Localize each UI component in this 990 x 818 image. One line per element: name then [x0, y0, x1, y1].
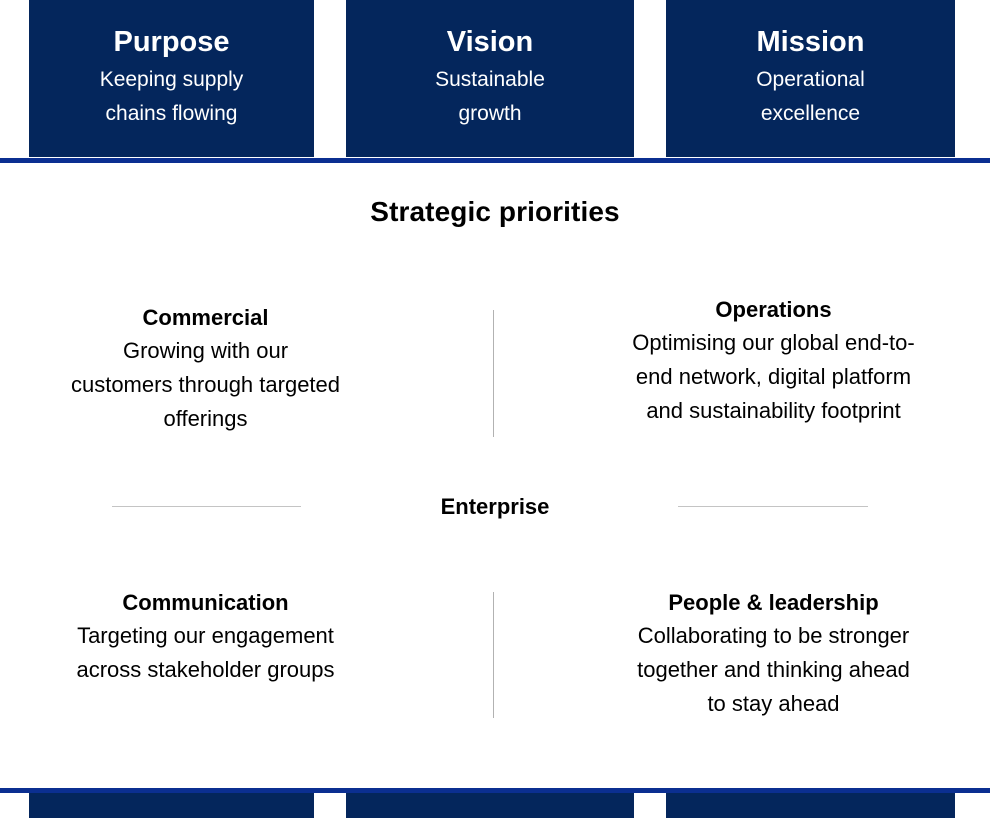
quadrant-people-leadership-description: Collaborating to be stronger together an…	[602, 619, 945, 722]
enterprise-label: Enterprise	[0, 494, 990, 520]
quadrant-commercial-description: Growing with our customers through targe…	[22, 334, 389, 437]
pillar-vision-subtitle: Sustainable growth	[435, 63, 545, 129]
section-title: Strategic priorities	[0, 196, 990, 228]
quadrant-people-leadership-title: People & leadership	[602, 589, 945, 617]
pillar-mission-title: Mission	[757, 27, 865, 58]
pillar-vision-title: Vision	[447, 27, 534, 58]
quadrant-operations-description: Optimising our global end-to- end networ…	[602, 326, 945, 429]
quadrant-communication: Communication Targeting our engagement a…	[22, 589, 389, 687]
quadrant-operations-title: Operations	[602, 296, 945, 324]
divider-vertical-top	[493, 310, 494, 437]
pillar-vision: Vision Sustainable growth	[346, 0, 634, 157]
quadrant-operations: Operations Optimising our global end-to-…	[602, 296, 945, 428]
quadrant-communication-title: Communication	[22, 589, 389, 617]
pillar-purpose-title: Purpose	[113, 27, 229, 58]
footer-block-1	[29, 793, 314, 818]
quadrant-people-leadership: People & leadership Collaborating to be …	[602, 589, 945, 721]
pillar-purpose-subtitle: Keeping supply chains flowing	[100, 63, 244, 129]
top-band: Purpose Keeping supply chains flowing Vi…	[0, 0, 990, 157]
accent-rule-top	[0, 158, 990, 163]
divider-vertical-bottom	[493, 592, 494, 718]
quadrant-communication-description: Targeting our engagement across stakehol…	[22, 619, 389, 688]
footer-block-2	[346, 793, 634, 818]
quadrant-commercial-title: Commercial	[22, 304, 389, 332]
quadrant-commercial: Commercial Growing with our customers th…	[22, 304, 389, 436]
footer-block-3	[666, 793, 955, 818]
slide-canvas: Purpose Keeping supply chains flowing Vi…	[0, 0, 990, 818]
pillar-purpose: Purpose Keeping supply chains flowing	[29, 0, 314, 157]
pillar-mission: Mission Operational excellence	[666, 0, 955, 157]
pillar-mission-subtitle: Operational excellence	[756, 63, 865, 129]
